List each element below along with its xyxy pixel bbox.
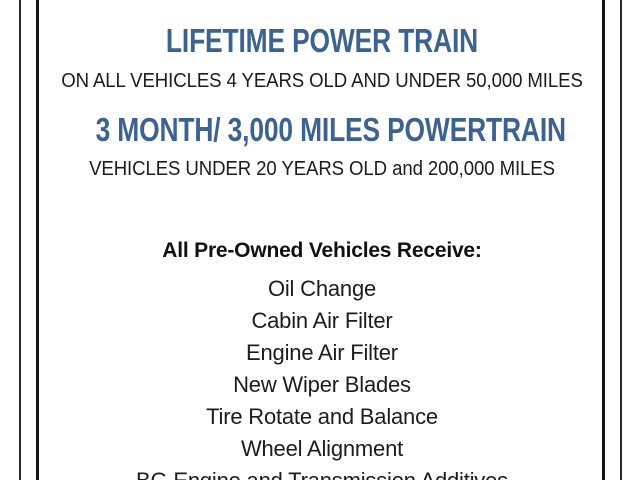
warranty-block-lifetime: LIFETIME POWER TRAIN ON ALL VEHICLES 4 Y… bbox=[39, 24, 605, 91]
list-item: Engine Air Filter bbox=[39, 337, 605, 369]
dealer-warranty-flyer: LIFETIME POWER TRAIN ON ALL VEHICLES 4 Y… bbox=[0, 0, 640, 480]
frame-rule-left-outer bbox=[19, 0, 21, 480]
list-item: Tire Rotate and Balance bbox=[39, 401, 605, 433]
flyer-content: LIFETIME POWER TRAIN ON ALL VEHICLES 4 Y… bbox=[39, 0, 605, 480]
list-item: BG Engine and Transmission Additives bbox=[39, 465, 605, 480]
frame-rule-right-outer bbox=[620, 0, 622, 480]
list-item: Wheel Alignment bbox=[39, 433, 605, 465]
warranty-block-three-month: 3 MONTH/ 3,000 MILES POWERTRAIN VEHICLES… bbox=[39, 113, 605, 179]
services-list: Oil Change Cabin Air Filter Engine Air F… bbox=[39, 273, 605, 480]
list-item: Oil Change bbox=[39, 273, 605, 305]
services-section-title: All Pre-Owned Vehicles Receive: bbox=[39, 240, 605, 261]
three-month-powertrain-headline: 3 MONTH/ 3,000 MILES POWERTRAIN bbox=[96, 113, 549, 146]
three-month-powertrain-subtext: VEHICLES UNDER 20 YEARS OLD and 200,000 … bbox=[59, 159, 585, 179]
services-section: All Pre-Owned Vehicles Receive: Oil Chan… bbox=[39, 240, 605, 480]
list-item: Cabin Air Filter bbox=[39, 305, 605, 337]
lifetime-powertrain-subtext: ON ALL VEHICLES 4 YEARS OLD AND UNDER 50… bbox=[59, 71, 585, 91]
list-item: New Wiper Blades bbox=[39, 369, 605, 401]
lifetime-powertrain-headline: LIFETIME POWER TRAIN bbox=[96, 24, 549, 57]
